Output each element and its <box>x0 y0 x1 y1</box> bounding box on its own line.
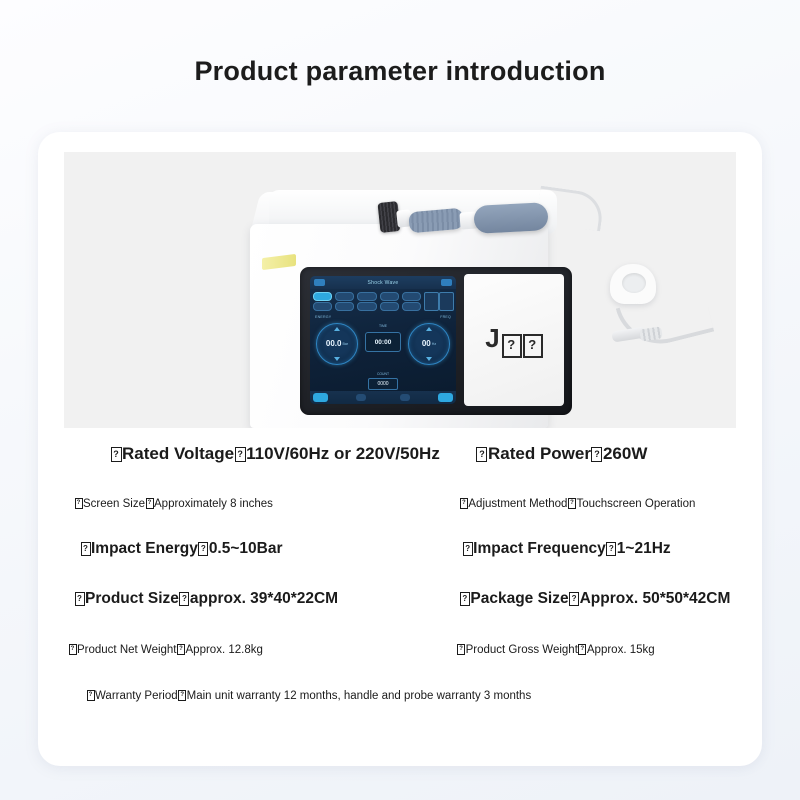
frequency-increase-icon[interactable] <box>426 327 432 331</box>
spec-package-size: ?Package Size?Approx. 50*50*42CM <box>459 590 730 607</box>
energy-gauge[interactable]: 00.0 Bar <box>316 323 358 365</box>
frequency-unit: Hz <box>432 342 436 346</box>
touchscreen-display[interactable]: Shock Wave <box>310 276 456 404</box>
spec-label: Rated Voltage <box>122 444 234 463</box>
specification-list: ?Rated Voltage?110V/60Hz or 220V/50Hz ?R… <box>38 432 762 766</box>
parameter-card: Shock Wave <box>38 132 762 766</box>
screen-mode-button[interactable] <box>335 302 354 311</box>
missing-glyph-box: ? <box>460 592 470 606</box>
spec-value: Approx. 50*50*42CM <box>580 590 731 607</box>
treatment-timer[interactable]: 00:00 <box>365 332 401 352</box>
screen-header-bar: Shock Wave <box>310 276 456 289</box>
missing-glyph-box: ? <box>87 690 95 701</box>
spec-adjustment-method: ?Adjustment Method?Touchscreen Operation <box>459 498 695 510</box>
watermark-text: J?? <box>485 323 542 358</box>
spec-row: ?Impact Energy?0.5~10Bar ?Impact Frequen… <box>38 540 762 558</box>
screen-chip-right-icon <box>441 279 452 286</box>
missing-glyph-box: ? <box>235 447 246 462</box>
missing-glyph-box: ? <box>502 334 522 358</box>
frequency-gauge[interactable]: 00 Hz <box>408 323 450 365</box>
spec-label: Product Net Weight <box>77 644 177 656</box>
screen-stop-button[interactable] <box>438 393 453 402</box>
spec-cell-rated-voltage: ?Rated Voltage?110V/60Hz or 220V/50Hz <box>38 444 444 464</box>
missing-glyph-box: ? <box>178 690 186 701</box>
energy-increase-icon[interactable] <box>334 327 340 331</box>
screen-mode-button[interactable] <box>335 292 354 301</box>
frequency-value: 00 <box>422 340 431 348</box>
handpiece-holder-slot <box>622 273 646 293</box>
missing-glyph-box: ? <box>463 542 473 556</box>
missing-glyph-box: ? <box>460 498 468 509</box>
missing-glyph-box: ? <box>198 542 208 556</box>
spec-product-size: ?Product Size?approx. 39*40*22CM <box>74 590 338 607</box>
spec-label: Impact Frequency <box>473 540 606 557</box>
spec-value: Touchscreen Operation <box>576 498 695 510</box>
missing-glyph-box: ? <box>591 447 602 462</box>
counter-caption: COUNT <box>377 372 389 376</box>
screen-mode-button[interactable] <box>313 292 332 301</box>
frequency-decrease-icon[interactable] <box>426 357 432 361</box>
spec-label: Adjustment Method <box>468 498 567 510</box>
screen-mode-button[interactable] <box>313 302 332 311</box>
spec-warranty-period: ?Warranty Period?Main unit warranty 12 m… <box>86 690 531 702</box>
spec-label: Impact Energy <box>91 540 198 557</box>
screen-frequency-label: FREQ <box>440 315 451 319</box>
watermark-panel: J?? <box>464 274 564 406</box>
spec-cell-net-weight: ?Product Net Weight?Approx. 12.8kg <box>38 640 425 658</box>
spec-label: Package Size <box>470 590 568 607</box>
screen-energy-label: ENERGY <box>315 315 331 319</box>
missing-glyph-box: ? <box>75 592 85 606</box>
spec-cell-screen-size: ?Screen Size?Approximately 8 inches <box>38 494 427 512</box>
screen-footer-control[interactable] <box>400 394 410 401</box>
screen-mode-button[interactable] <box>402 302 421 311</box>
handpiece-holder <box>610 264 656 304</box>
spec-value: 110V/60Hz or 220V/50Hz <box>246 444 440 463</box>
missing-glyph-box: ? <box>457 644 465 655</box>
screen-footer-bar <box>310 391 456 404</box>
energy-value: 00.0 <box>326 340 342 348</box>
missing-glyph-box: ? <box>578 644 586 655</box>
missing-glyph-box: ? <box>569 592 579 606</box>
screen-brand-label: Shock Wave <box>368 280 399 286</box>
screen-mode-button[interactable] <box>380 302 399 311</box>
missing-glyph-box: ? <box>606 542 616 556</box>
pulse-counter: 0000 <box>368 378 398 390</box>
missing-glyph-box: ? <box>146 498 154 509</box>
spec-value: Approx. 15kg <box>587 644 655 656</box>
spec-screen-size: ?Screen Size?Approximately 8 inches <box>74 498 273 510</box>
missing-glyph-box: ? <box>75 498 83 509</box>
spec-label: Product Size <box>85 590 179 607</box>
spec-impact-energy: ?Impact Energy?0.5~10Bar <box>80 540 283 557</box>
missing-glyph-box: ? <box>476 447 487 462</box>
screen-mode-button[interactable] <box>380 292 399 301</box>
timer-value: 00:00 <box>375 339 392 346</box>
spec-impact-frequency: ?Impact Frequency?1~21Hz <box>462 540 671 557</box>
spec-cell-gross-weight: ?Product Gross Weight?Approx. 15kg <box>425 640 762 658</box>
missing-glyph-box: ? <box>111 447 122 462</box>
spec-label: Rated Power <box>488 444 591 463</box>
spec-row: ?Product Size?approx. 39*40*22CM ?Packag… <box>38 590 762 608</box>
spec-value: Approx. 12.8kg <box>186 644 263 656</box>
watermark-letter: J <box>485 323 500 353</box>
timer-caption: TIME <box>379 324 387 328</box>
spec-row: ?Rated Voltage?110V/60Hz or 220V/50Hz ?R… <box>38 444 762 464</box>
screen-mode-button[interactable] <box>402 292 421 301</box>
screen-mode-row-1[interactable] <box>313 292 421 301</box>
spec-value: 260W <box>603 444 647 463</box>
counter-value: 0000 <box>377 381 388 387</box>
spec-product-net-weight: ?Product Net Weight?Approx. 12.8kg <box>68 644 263 656</box>
missing-glyph-box: ? <box>177 644 185 655</box>
screen-mode-row-2[interactable] <box>313 302 421 311</box>
spec-label: Warranty Period <box>95 690 178 702</box>
spec-value: Main unit warranty 12 months, handle and… <box>187 690 532 702</box>
missing-glyph-box: ? <box>69 644 77 655</box>
spec-label: Product Gross Weight <box>466 644 578 656</box>
spec-value: approx. 39*40*22CM <box>190 590 338 607</box>
spec-product-gross-weight: ?Product Gross Weight?Approx. 15kg <box>457 644 655 656</box>
screen-chip-left-icon <box>314 279 325 286</box>
missing-glyph-box: ? <box>81 542 91 556</box>
spec-cell-impact-frequency: ?Impact Frequency?1~21Hz <box>430 540 762 558</box>
spec-cell-adjustment-method: ?Adjustment Method?Touchscreen Operation <box>427 494 762 512</box>
spec-value: 0.5~10Bar <box>209 540 283 557</box>
energy-unit: Bar <box>342 342 348 346</box>
screen-start-button[interactable] <box>313 393 328 402</box>
spec-value: Approximately 8 inches <box>154 498 273 510</box>
screen-preset-tile[interactable] <box>424 292 439 311</box>
screen-preset-tile[interactable] <box>439 292 454 311</box>
page-title: Product parameter introduction <box>0 56 800 87</box>
missing-glyph-box: ? <box>179 592 189 606</box>
spec-cell-rated-power: ?Rated Power?260W <box>444 444 762 464</box>
energy-decrease-icon[interactable] <box>334 357 340 361</box>
spec-row: ?Product Net Weight?Approx. 12.8kg ?Prod… <box>38 640 762 658</box>
screen-footer-control[interactable] <box>356 394 366 401</box>
product-photo: Shock Wave <box>64 152 736 428</box>
screen-mode-button[interactable] <box>357 292 376 301</box>
spec-cell-impact-energy: ?Impact Energy?0.5~10Bar <box>38 540 430 558</box>
spec-rated-voltage: ?Rated Voltage?110V/60Hz or 220V/50Hz <box>110 444 440 463</box>
product-parameter-page: Product parameter introduction Shock Wav… <box>0 0 800 800</box>
spec-rated-power: ?Rated Power?260W <box>476 444 647 463</box>
spec-row: ?Screen Size?Approximately 8 inches ?Adj… <box>38 494 762 512</box>
spec-value: 1~21Hz <box>617 540 671 557</box>
spec-cell-product-size: ?Product Size?approx. 39*40*22CM <box>38 590 427 608</box>
missing-glyph-box: ? <box>568 498 576 509</box>
missing-glyph-box: ? <box>523 334 543 358</box>
spec-row-warranty: ?Warranty Period?Main unit warranty 12 m… <box>38 690 800 702</box>
spec-cell-package-size: ?Package Size?Approx. 50*50*42CM <box>427 590 762 608</box>
device-screen-bezel: Shock Wave <box>300 267 572 415</box>
screen-mode-button[interactable] <box>357 302 376 311</box>
spec-label: Screen Size <box>83 498 145 510</box>
